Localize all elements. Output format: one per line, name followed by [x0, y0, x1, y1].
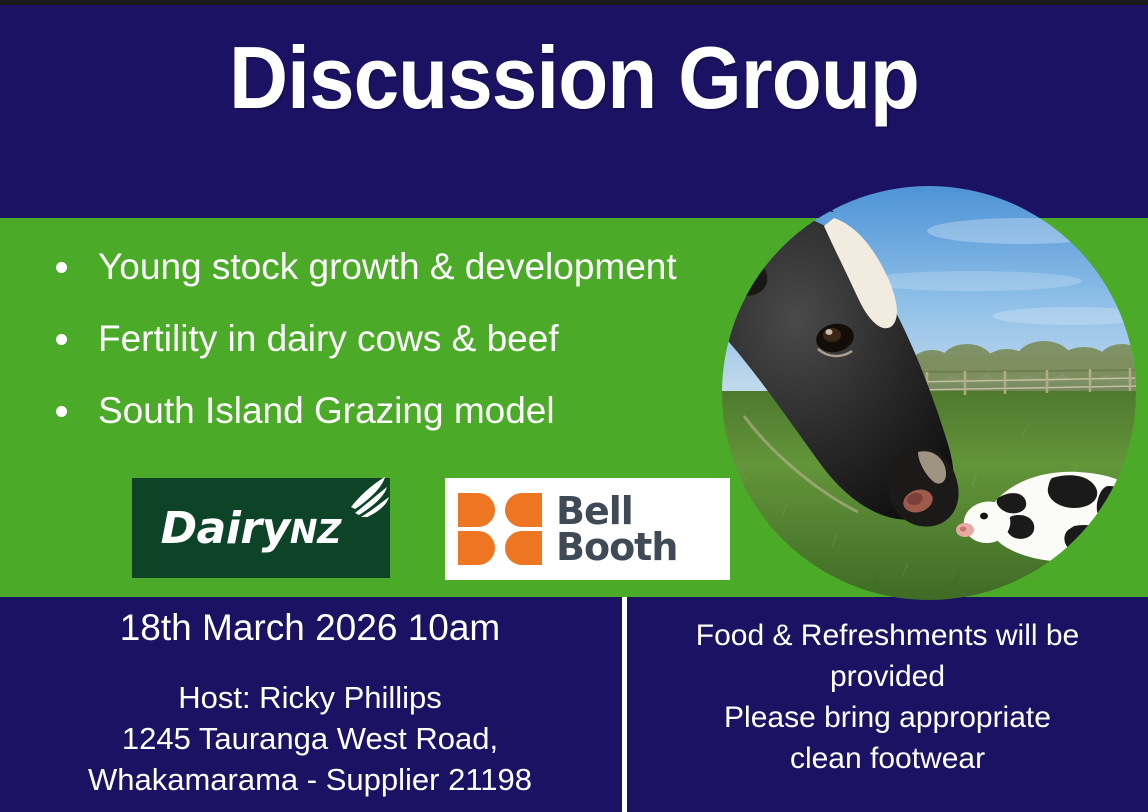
event-host: Host: Ricky Phillips [0, 677, 620, 718]
topic-label: Young stock growth & development [98, 246, 677, 287]
notes-line1: Food & Refreshments will be [627, 615, 1148, 656]
event-notes: Food & Refreshments will be provided Ple… [627, 597, 1148, 779]
page-title: Discussion Group [40, 32, 1108, 124]
notes-line2: provided [627, 656, 1148, 697]
event-details: 18th March 2026 10am Host: Ricky Phillip… [0, 597, 620, 800]
bell-booth-line2: Booth [556, 529, 677, 565]
notes-line3: Please bring appropriate [627, 697, 1148, 738]
dairynz-logo-text-secondary: NZ [290, 512, 342, 551]
event-date-time: 18th March 2026 10am [0, 607, 620, 650]
bullet-dot-icon [56, 406, 67, 417]
event-address-line2: Whakamarama - Supplier 21198 [0, 759, 620, 800]
topic-label: Fertility in dairy cows & beef [98, 318, 559, 359]
discussion-group-poster: Discussion Group Young stock growth & de… [0, 0, 1148, 812]
list-item: Young stock growth & development [40, 248, 740, 285]
bell-booth-wordmark: Bell Booth [556, 493, 677, 566]
dairynz-swoosh-icon [345, 473, 389, 517]
bell-booth-mark-icon [458, 493, 542, 565]
dairynz-wordmark: Dairy NZ [161, 503, 342, 554]
bullet-dot-icon [56, 334, 67, 345]
dairynz-logo-text-primary: Dairy [161, 503, 290, 554]
list-item: South Island Grazing model [40, 392, 740, 429]
bullet-dot-icon [56, 262, 67, 273]
dairynz-logo: Dairy NZ [132, 478, 390, 578]
event-location: Host: Ricky Phillips 1245 Tauranga West … [0, 677, 620, 801]
bell-booth-line1: Bell [556, 493, 677, 529]
bell-booth-logo: Bell Booth [445, 478, 730, 580]
cow-and-calf-photo [722, 186, 1136, 600]
topic-label: South Island Grazing model [98, 390, 555, 431]
topic-list: Young stock growth & development Fertili… [40, 248, 740, 464]
event-address-line1: 1245 Tauranga West Road, [0, 718, 620, 759]
notes-line4: clean footwear [627, 738, 1148, 779]
list-item: Fertility in dairy cows & beef [40, 320, 740, 357]
